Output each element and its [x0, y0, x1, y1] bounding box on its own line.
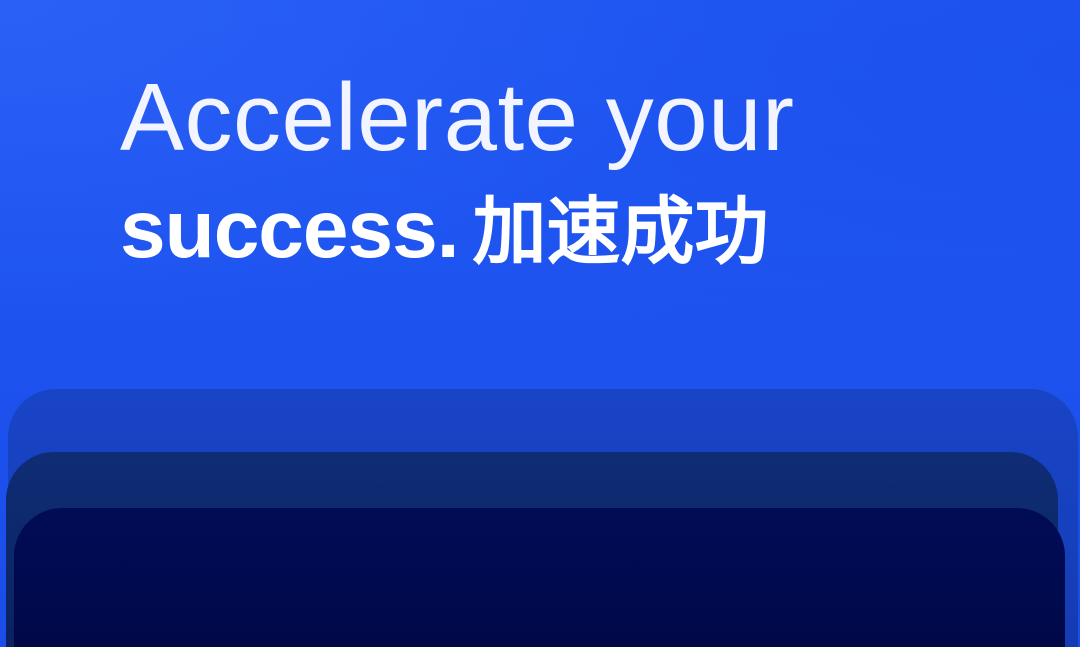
decorative-band-lower: [14, 508, 1065, 647]
headline-latin-emphasis: success.: [120, 184, 459, 275]
headline-line-secondary: success.加速成功: [120, 182, 980, 280]
promo-banner: Accelerate your success.加速成功: [0, 0, 1080, 647]
headline-cjk-emphasis: 加速成功: [473, 190, 769, 273]
headline-line-primary: Accelerate your: [120, 62, 980, 174]
headline-block: Accelerate your success.加速成功: [120, 62, 980, 280]
